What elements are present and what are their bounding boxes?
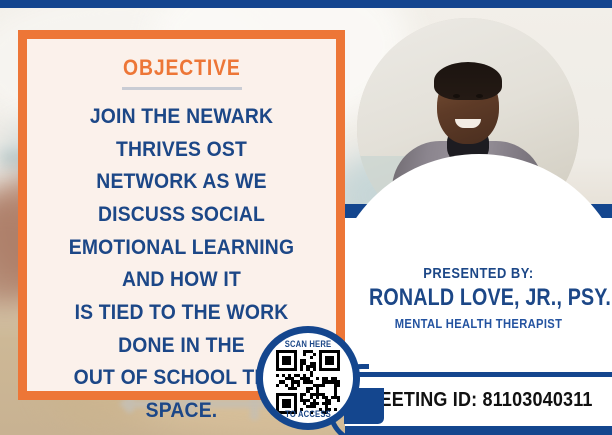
qr-code-badge[interactable]: SCAN HERE TO ACCESS (256, 326, 360, 430)
presenter-name: RONALD LOVE, JR., PSY.D. (369, 284, 588, 312)
qr-access-label: TO ACCESS (270, 409, 347, 419)
objective-divider (122, 87, 242, 90)
objective-heading: OBJECTIVE (123, 57, 241, 79)
qr-scan-label: SCAN HERE (270, 339, 347, 349)
qr-code-image[interactable] (276, 350, 340, 414)
meeting-id-text: MEETING ID: 81103040311 (358, 389, 598, 412)
objective-line: NETWORK AS WE DISCUSS SOCIAL (57, 165, 306, 230)
bottom-accent-bar (345, 426, 612, 435)
qr-badge-face: SCAN HERE TO ACCESS (263, 333, 353, 423)
presented-by-label: PRESENTED BY: (364, 265, 594, 282)
presenter-column: PRESENTED BY: RONALD LOVE, JR., PSY.D. M… (345, 8, 612, 435)
top-accent-bar (0, 0, 612, 8)
objective-line: JOIN THE NEWARK THRIVES OST (57, 100, 306, 165)
poster-canvas: PRESENTED BY: RONALD LOVE, JR., PSY.D. M… (0, 0, 612, 435)
meeting-id-strip: MEETING ID: 81103040311 (345, 372, 612, 425)
objective-line: EMOTIONAL LEARNING AND HOW IT (57, 231, 306, 296)
presenter-role: MENTAL HEALTH THERAPIST (364, 316, 594, 331)
